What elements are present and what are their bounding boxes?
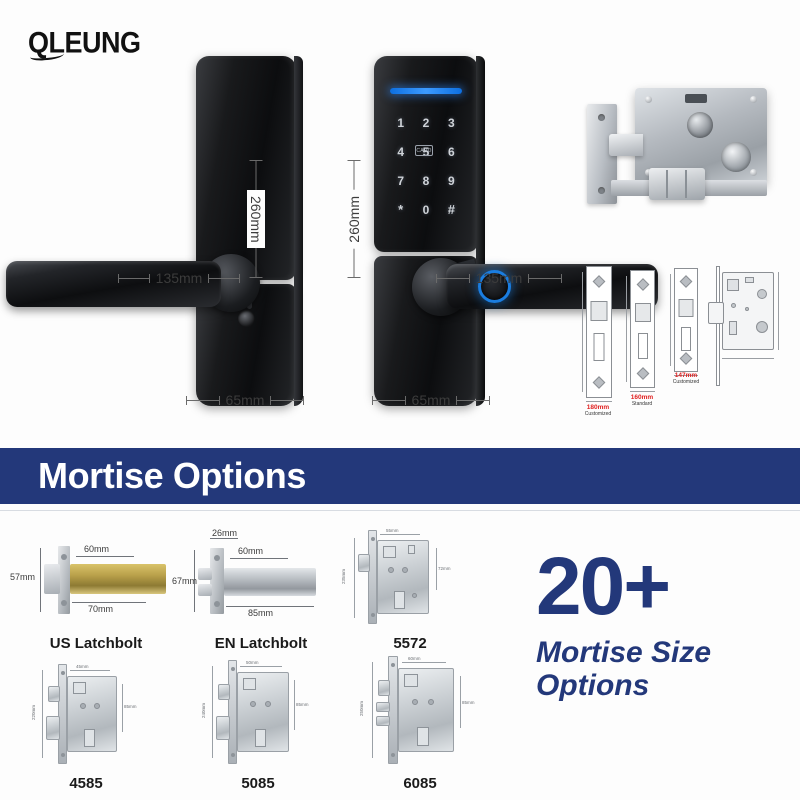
en-latchbolt-tube [224, 568, 316, 596]
mortise-item-6085[interactable]: 250mm 60mm 85mm 6085 [336, 654, 504, 792]
mortise-5572-faceplate [368, 530, 377, 624]
mortise-5085-height-dim: 240mm [201, 703, 206, 718]
tech-drawing-147-type: Customized [654, 379, 718, 385]
mortise-5572-backset-dim: 55mm [386, 528, 399, 533]
mortise-count-caption-line2: Options [536, 669, 786, 703]
us-latchbolt-height-dim: 57mm [10, 572, 35, 582]
mortise-6085-case [398, 668, 454, 752]
keypad-key-hash[interactable]: # [448, 202, 455, 217]
mortise-deadbolt [649, 168, 705, 200]
tech-drawing-147 [674, 268, 698, 372]
tech-drawing-160-type: Standard [610, 401, 674, 407]
mortise-5572-height-dim: 235mm [341, 569, 346, 584]
front-panel-upper: 1 2 3 4 5 6 7 8 9 * 0 # CARD [374, 56, 478, 252]
mortise-window [685, 94, 707, 103]
us-latchbolt-bolt [44, 564, 60, 594]
mortise-item-6085-label: 6085 [336, 775, 504, 792]
mortise-options-banner: Mortise Options [0, 448, 800, 504]
mortise-5085-faceplate [228, 660, 237, 764]
dimension-right-width: 135mm [436, 270, 562, 286]
mortise-item-us-latchbolt[interactable]: 57mm 60mm 70mm US Latchbolt [6, 532, 186, 652]
mortise-lock-photo [583, 82, 773, 212]
mortise-4585-backset-dim: 45mm [76, 664, 89, 669]
en-latchbolt-height-dim: 67mm [172, 576, 197, 586]
tech-drawing-147-size: 147mm [654, 372, 718, 379]
mortise-item-5085[interactable]: 240mm 50mm 85mm 5085 [178, 658, 338, 792]
mortise-5572-case [377, 540, 429, 614]
tech-drawing-160 [630, 270, 655, 388]
mortise-4585-center-dim: 85mm [124, 704, 137, 709]
banner-underline [0, 510, 800, 511]
banner-title: Mortise Options [38, 455, 306, 497]
mortise-item-5085-label: 5085 [178, 775, 338, 792]
mortise-item-4585-label: 4585 [6, 775, 166, 792]
keyhole-icon [238, 310, 255, 327]
dimension-left-depth: 65mm [186, 392, 304, 408]
mortise-5085-center-dim: 85mm [296, 702, 309, 707]
keypad-key-3[interactable]: 3 [448, 116, 455, 130]
mortise-4585-latch [48, 686, 60, 702]
dimension-right-depth: 65mm [372, 392, 490, 408]
dimension-right-height: 260mm [345, 160, 363, 278]
mortise-5085-case [237, 672, 289, 752]
en-latchbolt-faceplate-dim: 26mm [212, 528, 237, 538]
product-showcase: 1 2 3 4 5 6 7 8 9 * 0 # CARD [0, 0, 800, 440]
tech-drawing-180-type: Customized [566, 411, 630, 417]
product-infographic-page: QLEUNG 1 2 3 4 5 [0, 0, 800, 800]
dimension-right-width-label: 135mm [470, 270, 529, 286]
mortise-6085-center-dim: 85mm [462, 700, 475, 705]
mortise-4585-deadbolt [46, 716, 60, 740]
keypad-key-8[interactable]: 8 [423, 174, 430, 188]
back-panel-upper [196, 56, 296, 280]
mortise-latch [609, 134, 643, 156]
cylinder-hole-icon [721, 142, 751, 172]
mortise-count-caption-line1: Mortise Size [536, 636, 786, 670]
en-latchbolt-faceplate [210, 548, 224, 614]
mortise-4585-height-dim: 220mm [31, 705, 36, 720]
mortise-4585-case [67, 676, 117, 752]
us-latchbolt-backset-dim: 60mm [84, 544, 109, 554]
keypad-key-6[interactable]: 6 [448, 145, 455, 159]
mortise-item-us-latchbolt-label: US Latchbolt [6, 635, 186, 652]
us-latchbolt-tube [70, 564, 166, 594]
keypad-key-star[interactable]: * [398, 202, 403, 217]
tech-drawing-side-faceplate [716, 266, 720, 386]
keypad-key-7[interactable]: 7 [397, 174, 404, 188]
en-latchbolt-bolt-upper [198, 568, 212, 580]
dimension-left-width: 135mm [118, 270, 240, 286]
dimension-right-depth-label: 65mm [406, 392, 457, 408]
dimension-left-height-label: 260mm [247, 190, 265, 249]
led-indicator-bar [390, 88, 462, 94]
card-reader-badge: CARD [415, 145, 433, 156]
mortise-6085-height-dim: 250mm [359, 701, 364, 716]
touch-keypad[interactable]: 1 2 3 4 5 6 7 8 9 * 0 # [388, 108, 464, 224]
keypad-key-4[interactable]: 4 [397, 145, 404, 159]
front-panel-edge [476, 56, 485, 406]
mortise-item-4585[interactable]: 220mm 45mm 85mm 4585 [6, 662, 166, 792]
mortise-count-value: 20+ [536, 548, 786, 626]
mortise-technical-drawings: 180mm Customized 160mm Standard [580, 258, 780, 408]
mortise-5085-deadbolt [216, 716, 230, 740]
dimension-right-height-label: 260mm [345, 190, 363, 249]
en-latchbolt-backset-dim: 60mm [238, 546, 263, 556]
mortise-5085-backset-dim: 50mm [246, 660, 259, 665]
mortise-count-caption: Mortise Size Options [536, 636, 786, 703]
smart-lock-front-panel: 1 2 3 4 5 6 7 8 9 * 0 # CARD [374, 56, 492, 406]
mortise-item-en-latchbolt-label: EN Latchbolt [186, 635, 336, 652]
us-latchbolt-length-dim: 70mm [88, 604, 113, 614]
mortise-6085-backset-dim: 60mm [408, 656, 421, 661]
dimension-left-width-label: 135mm [150, 270, 209, 286]
mortise-5572-center-dim: 72mm [438, 566, 451, 571]
mortise-count-highlight: 20+ Mortise Size Options [536, 548, 786, 748]
tech-drawing-side-latch [708, 302, 724, 324]
mortise-item-5572[interactable]: 235mm 55mm 72mm 5572 [340, 528, 480, 652]
tech-drawing-180 [586, 266, 612, 398]
mortise-6085-deadbolt-lower [376, 716, 390, 726]
back-panel-edge [294, 56, 303, 406]
tech-drawing-160-size: 160mm [610, 394, 674, 401]
mortise-5085-latch [218, 684, 230, 700]
en-latchbolt-length-dim: 85mm [248, 608, 273, 618]
tech-drawing-side-case [722, 272, 774, 350]
keypad-key-9[interactable]: 9 [448, 174, 455, 188]
en-latchbolt-bolt-lower [198, 584, 212, 596]
dimension-left-height: 260mm [247, 160, 265, 278]
mortise-options-grid: 57mm 60mm 70mm US Latchbolt 26mm 67mm [0, 524, 520, 800]
keypad-key-2[interactable]: 2 [423, 116, 430, 130]
mortise-item-5572-label: 5572 [340, 635, 480, 652]
keypad-key-1[interactable]: 1 [397, 116, 404, 130]
mortise-4585-faceplate [58, 664, 67, 764]
dimension-left-depth-label: 65mm [220, 392, 271, 408]
spindle-hole-icon [687, 112, 713, 138]
mortise-item-en-latchbolt[interactable]: 26mm 67mm 60mm 85mm EN Latchbolt [186, 528, 336, 652]
mortise-6085-latch [378, 680, 390, 696]
keypad-key-0[interactable]: 0 [423, 203, 430, 217]
mortise-5572-latch [358, 554, 370, 572]
mortise-6085-deadbolt-upper [376, 702, 390, 712]
